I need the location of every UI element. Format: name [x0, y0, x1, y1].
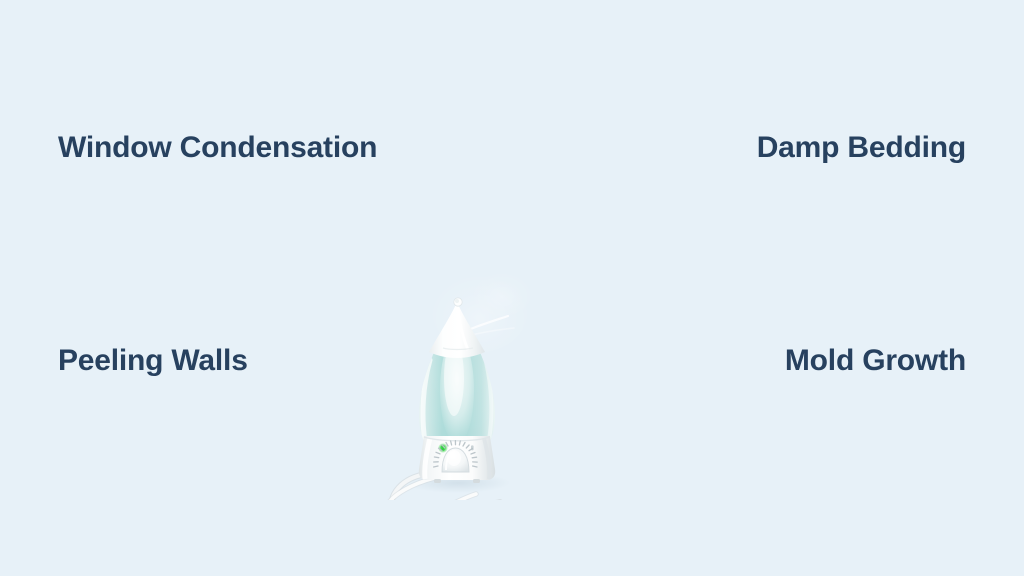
- humidifier-image: [330, 250, 580, 500]
- base-foot-left: [434, 479, 441, 483]
- base-foot-right: [473, 479, 480, 483]
- label-mold-growth: Mold Growth: [785, 346, 966, 376]
- slide-canvas: Window Condensation Damp Bedding Peeling…: [0, 0, 1024, 576]
- mist-nozzle: [454, 298, 462, 306]
- label-window-condensation: Window Condensation: [58, 133, 377, 163]
- label-damp-bedding: Damp Bedding: [757, 133, 966, 163]
- label-peeling-walls: Peeling Walls: [58, 346, 248, 376]
